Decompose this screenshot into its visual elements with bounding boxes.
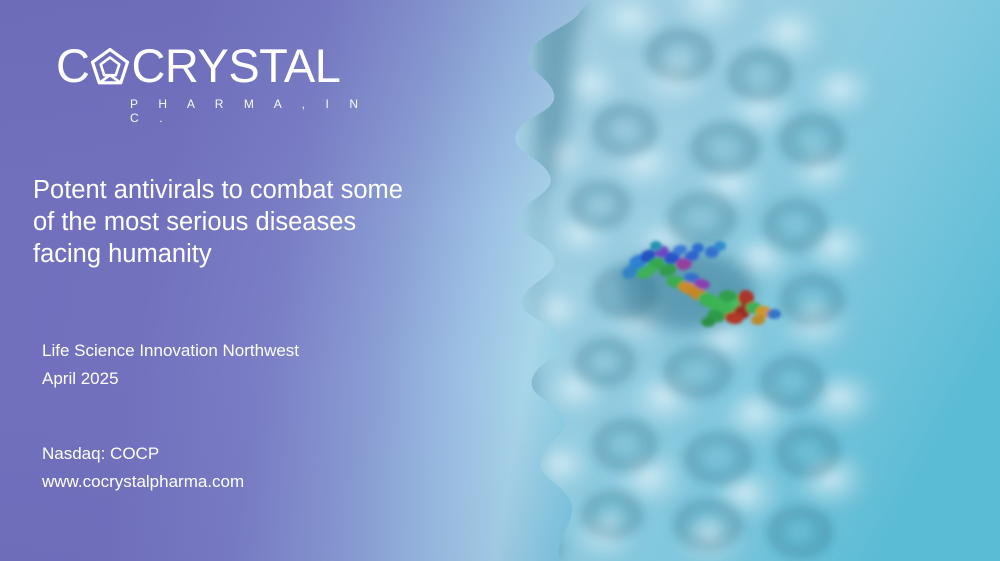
protein-front-lobe <box>500 0 1000 561</box>
crystal-gem-icon <box>90 47 130 87</box>
investor-info: Nasdaq: COCP www.cocrystalpharma.com <box>42 440 244 496</box>
headline-line-1: Potent antivirals to combat some <box>33 174 463 206</box>
company-website[interactable]: www.cocrystalpharma.com <box>42 468 244 496</box>
logo-letter-c: C <box>56 43 89 89</box>
company-logo[interactable]: C CRYSTAL P H A R M A , I N C . <box>56 42 376 125</box>
headline-line-2: of the most serious diseases <box>33 206 463 238</box>
event-name: Life Science Innovation Northwest <box>42 337 299 365</box>
headline: Potent antivirals to combat some of the … <box>33 174 463 270</box>
headline-line-3: facing humanity <box>33 238 463 270</box>
stock-ticker: Nasdaq: COCP <box>42 440 244 468</box>
logo-subtitle: P H A R M A , I N C . <box>56 97 376 125</box>
event-info: Life Science Innovation Northwest April … <box>42 337 299 393</box>
presentation-slide: C CRYSTAL P H A R M A , I N C . Potent a… <box>0 0 1000 561</box>
logo-letters-crystal: CRYSTAL <box>131 43 340 89</box>
event-date: April 2025 <box>42 365 299 393</box>
protein-molecular-surface-artwork <box>440 0 1000 561</box>
logo-wordmark: C CRYSTAL <box>56 42 376 90</box>
